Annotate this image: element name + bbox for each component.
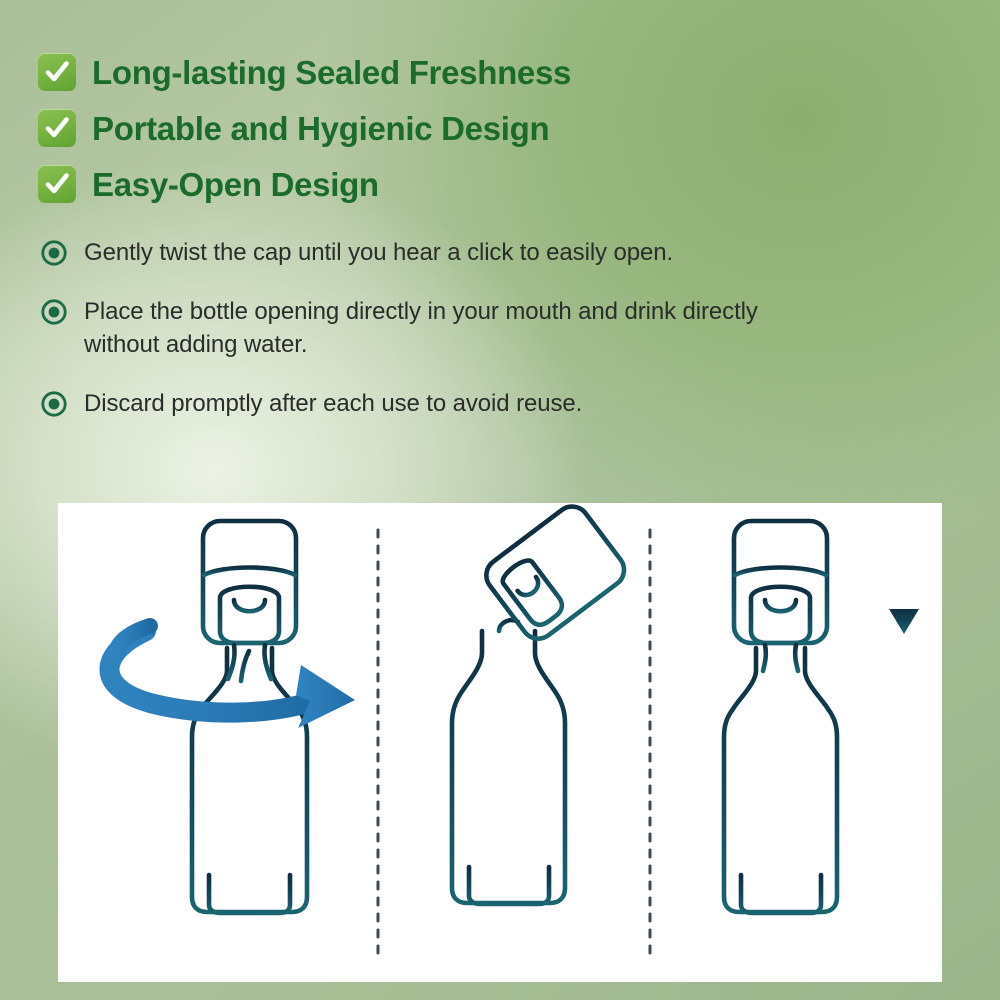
- infographic-canvas: Long-lasting Sealed Freshness Portable a…: [0, 0, 1000, 1000]
- feature-label: Portable and Hygienic Design: [92, 112, 549, 145]
- instruction-item: Discard promptly after each use to avoid…: [40, 387, 830, 420]
- check-square-icon: [38, 53, 76, 91]
- bottle-outline: [724, 648, 837, 913]
- instruction-text: Gently twist the cap until you hear a cl…: [84, 236, 673, 269]
- feature-list: Long-lasting Sealed Freshness Portable a…: [38, 44, 738, 212]
- feature-item: Long-lasting Sealed Freshness: [38, 44, 738, 100]
- check-square-icon: [38, 165, 76, 203]
- feature-label: Easy-Open Design: [92, 168, 379, 201]
- down-arrow: [889, 571, 919, 634]
- instruction-text: Place the bottle opening directly in you…: [84, 295, 814, 361]
- bottle-steps-diagram: [58, 503, 942, 982]
- instruction-list: Gently twist the cap until you hear a cl…: [40, 236, 830, 420]
- instruction-item: Place the bottle opening directly in you…: [40, 295, 830, 361]
- radio-bullet-icon: [40, 390, 68, 418]
- radio-bullet-icon: [40, 298, 68, 326]
- feature-item: Portable and Hygienic Design: [38, 100, 738, 156]
- instruction-item: Gently twist the cap until you hear a cl…: [40, 236, 830, 269]
- bottle-cap: [734, 521, 827, 671]
- check-square-icon: [38, 109, 76, 147]
- illustration-panel: [58, 503, 942, 982]
- press-cap-step: [724, 521, 919, 941]
- bottle-outline: [192, 648, 307, 913]
- bottle-outline: [452, 620, 565, 904]
- twist-cap-step: [109, 521, 355, 941]
- radio-bullet-icon: [40, 239, 68, 267]
- instruction-text: Discard promptly after each use to avoid…: [84, 387, 582, 420]
- feature-item: Easy-Open Design: [38, 156, 738, 212]
- bottle-cap: [203, 521, 296, 681]
- remove-cap-step: [452, 503, 631, 941]
- feature-label: Long-lasting Sealed Freshness: [92, 56, 571, 89]
